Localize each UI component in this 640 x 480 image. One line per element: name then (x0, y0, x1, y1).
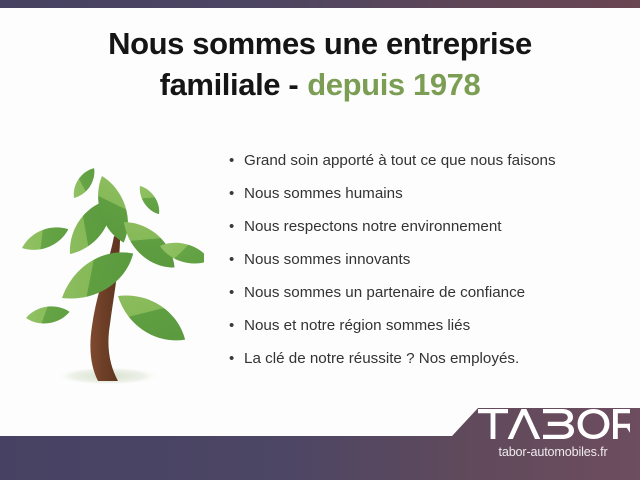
tree-leaves (19, 164, 204, 352)
bullet-marker-icon: • (229, 249, 244, 271)
list-item: • Nous sommes innovants (229, 249, 629, 282)
page-title-line-2: familiale -depuis 1978 (0, 65, 640, 106)
footer: tabor-automobiles.fr (0, 400, 640, 480)
family-tree-illustration (14, 150, 204, 390)
list-item: • Grand soin apporté à tout ce que nous … (229, 150, 629, 183)
bullet-marker-icon: • (229, 216, 244, 238)
list-item-label: La clé de notre réussite ? Nos employés. (244, 348, 519, 370)
bullet-marker-icon: • (229, 150, 244, 172)
bullet-marker-icon: • (229, 348, 244, 370)
list-item-label: Nous sommes un partenaire de confiance (244, 282, 525, 304)
brand-logo[interactable]: tabor-automobiles.fr (478, 409, 634, 459)
tree-graphic (14, 150, 204, 390)
page-title-line-2-black: familiale - (160, 67, 299, 102)
top-accent-bar (0, 0, 640, 8)
list-item-label: Grand soin apporté à tout ce que nous fa… (244, 150, 556, 172)
bullet-marker-icon: • (229, 282, 244, 304)
list-item-label: Nous sommes humains (244, 183, 403, 205)
bullet-marker-icon: • (229, 183, 244, 205)
page-title-line-1: Nous sommes une entreprise (0, 24, 640, 65)
page-title: Nous sommes une entreprise familiale -de… (0, 24, 640, 106)
list-item-label: Nous et notre région sommes liés (244, 315, 470, 337)
list-item: • Nous sommes un partenaire de confiance (229, 282, 629, 315)
value-proposition-list: • Grand soin apporté à tout ce que nous … (229, 150, 629, 381)
bullet-marker-icon: • (229, 315, 244, 337)
list-item: • Nous et notre région sommes liés (229, 315, 629, 348)
list-item: • Nous respectons notre environnement (229, 216, 629, 249)
slide-canvas: Nous sommes une entreprise familiale -de… (0, 0, 640, 480)
list-item-label: Nous respectons notre environnement (244, 216, 502, 238)
list-item: • Nous sommes humains (229, 183, 629, 216)
page-title-highlight-since: depuis 1978 (307, 67, 480, 102)
list-item-label: Nous sommes innovants (244, 249, 410, 271)
tabor-wordmark (478, 409, 630, 439)
brand-tagline: tabor-automobiles.fr (478, 445, 628, 459)
list-item: • La clé de notre réussite ? Nos employé… (229, 348, 629, 381)
